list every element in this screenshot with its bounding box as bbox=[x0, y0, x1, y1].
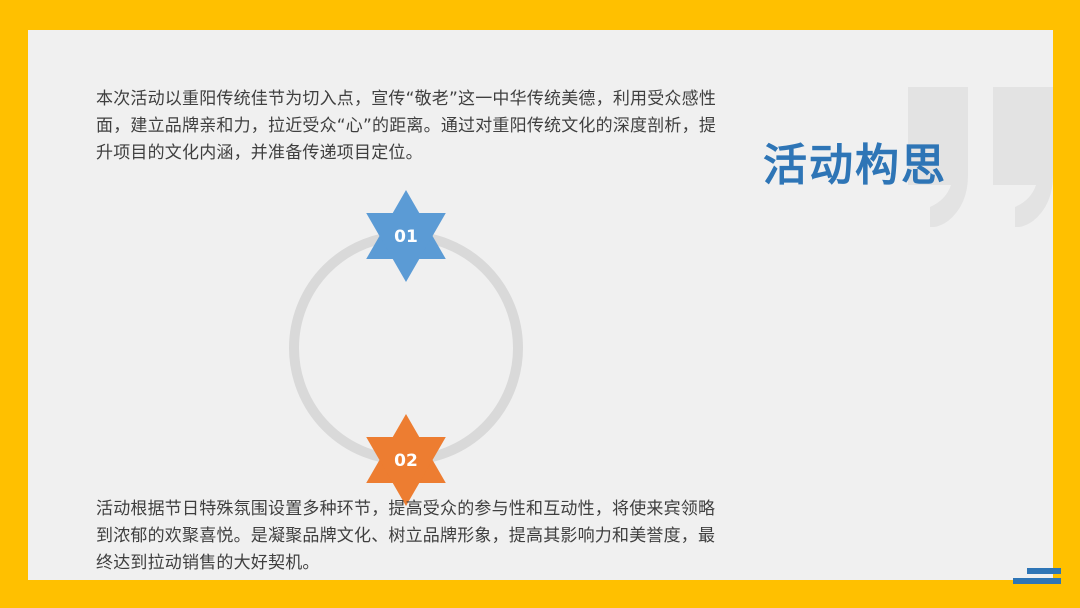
content-panel: 本次活动以重阳传统佳节为切入点，宣传“敬老”这一中华传统美德，利用受众感性面，建… bbox=[28, 30, 1053, 580]
paragraph-bottom: 活动根据节日特殊氛围设置多种环节，提高受众的参与性和互动性，将使来宾领略到浓郁的… bbox=[96, 496, 716, 577]
corner-bar-top bbox=[1027, 568, 1061, 574]
corner-bar-bottom bbox=[1013, 578, 1061, 584]
badge-step-02-label: 02 bbox=[394, 451, 418, 471]
process-ring-diagram: 01 02 bbox=[284, 190, 529, 510]
slide-canvas: 本次活动以重阳传统佳节为切入点，宣传“敬老”这一中华传统美德，利用受众感性面，建… bbox=[0, 0, 1080, 608]
paragraph-top: 本次活动以重阳传统佳节为切入点，宣传“敬老”这一中华传统美德，利用受众感性面，建… bbox=[96, 86, 716, 167]
corner-bars-decoration bbox=[1013, 568, 1061, 588]
page-title: 活动构思 bbox=[763, 144, 947, 188]
badge-step-01-label: 01 bbox=[394, 227, 418, 247]
